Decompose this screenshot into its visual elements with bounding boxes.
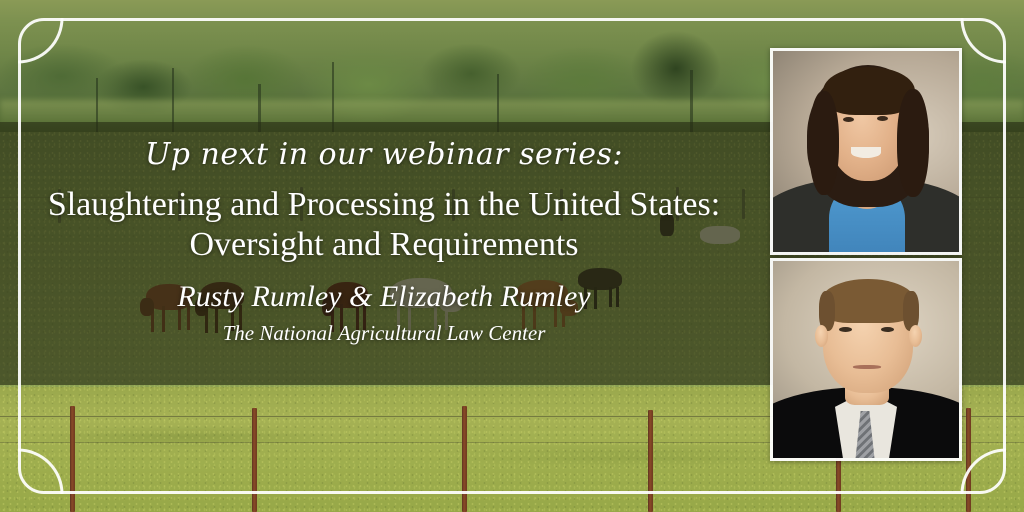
fence-post <box>648 410 653 512</box>
fence-post <box>462 406 467 512</box>
rusty-rumley-headshot <box>770 258 962 461</box>
avatar <box>773 261 959 458</box>
fence-post <box>252 408 257 512</box>
eyebrow-text: Up next in our webinar series: <box>0 138 768 171</box>
elizabeth-rumley-headshot <box>770 48 962 255</box>
webinar-promo-graphic: Up next in our webinar series: Slaughter… <box>0 0 1024 512</box>
presenters-text: Rusty Rumley & Elizabeth Rumley <box>0 279 768 315</box>
organization-text: The National Agricultural Law Center <box>0 321 768 346</box>
promo-copy-block: Up next in our webinar series: Slaughter… <box>0 138 768 346</box>
avatar <box>773 51 959 252</box>
fence-post <box>966 408 971 512</box>
page-title: Slaughtering and Processing in the Unite… <box>0 185 768 265</box>
fence-post <box>70 406 75 512</box>
